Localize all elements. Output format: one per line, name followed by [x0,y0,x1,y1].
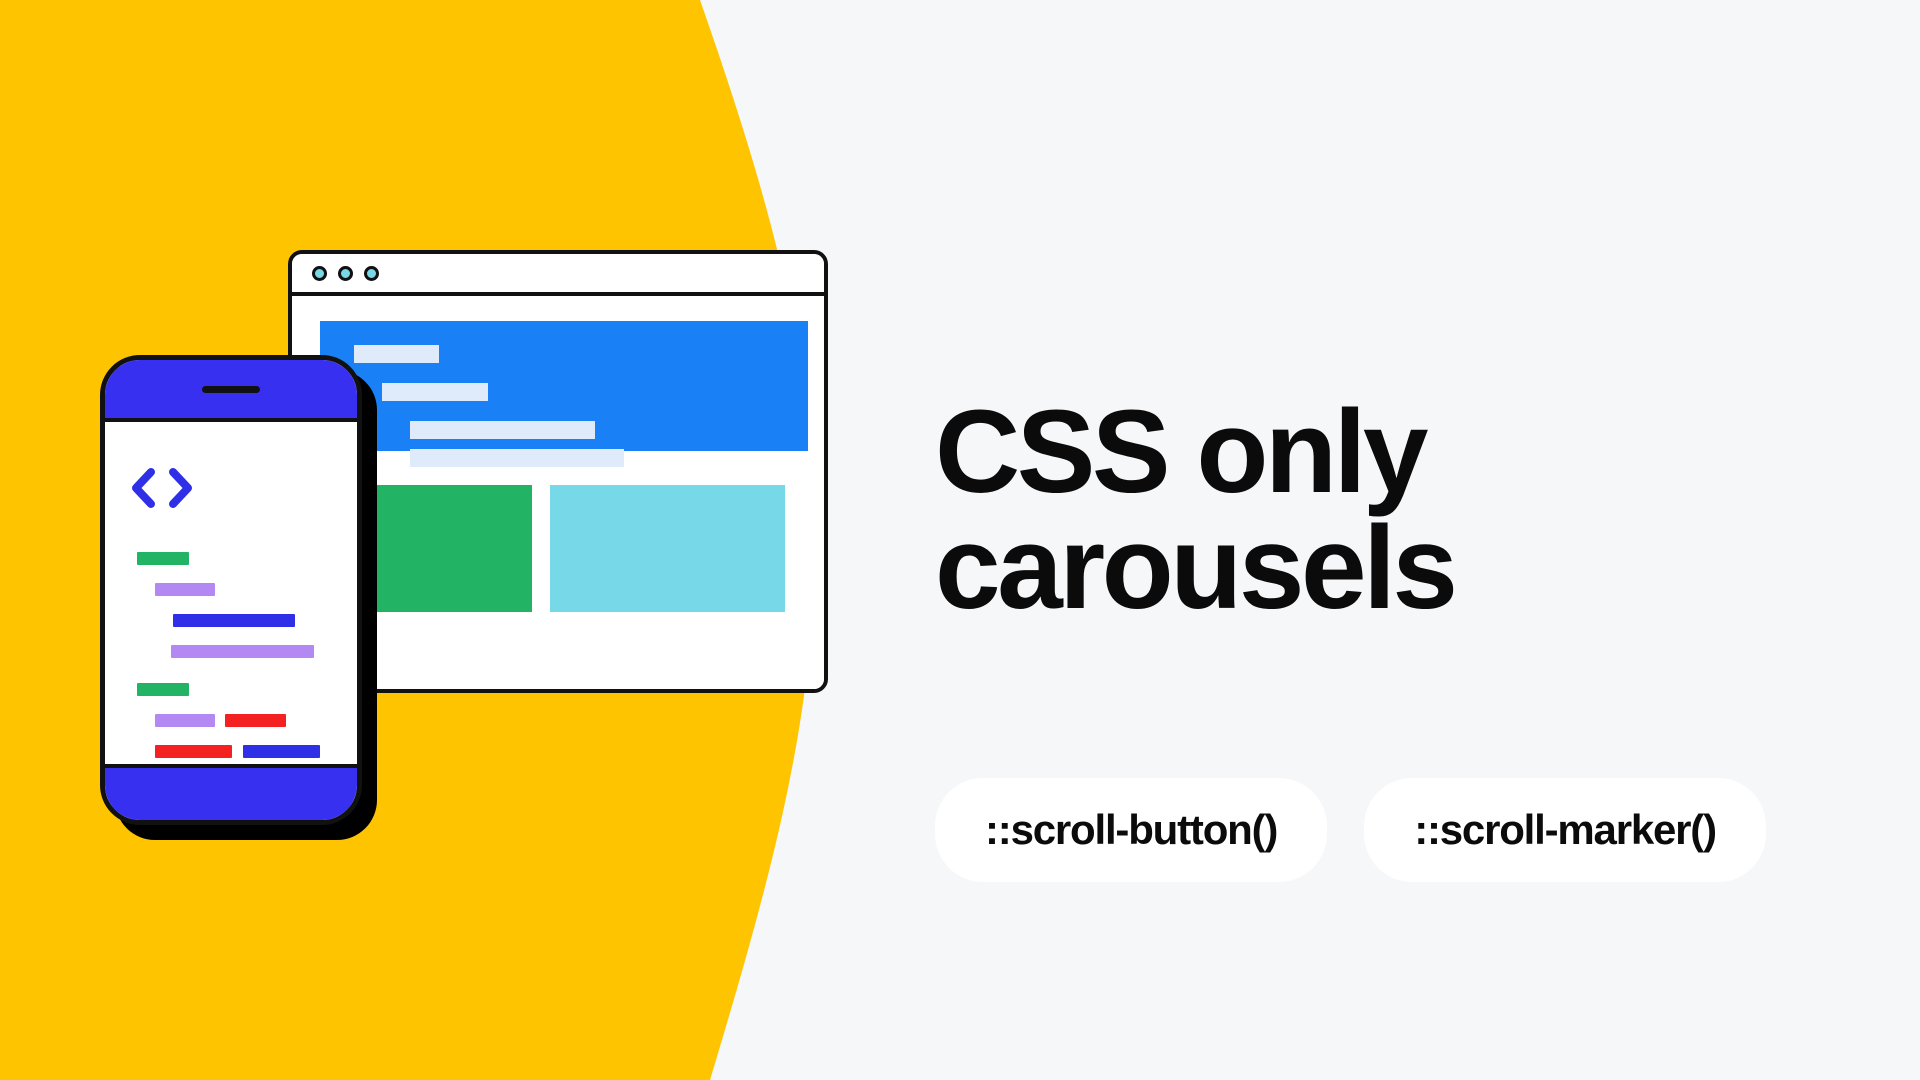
code-line [243,745,320,758]
phone-home-bar [105,764,357,820]
code-line [137,683,189,696]
window-dot-close-icon [312,266,327,281]
carousel-slide-blue [320,321,808,451]
phone-screen [105,422,357,762]
window-dot-minimize-icon [338,266,353,281]
hero-illustration [0,0,900,1080]
carousel-slide-cyan [550,485,785,612]
phone-mockup [100,355,362,825]
code-line [155,583,215,596]
code-line [173,614,295,627]
feature-pill-group: ::scroll-button() ::scroll-marker() [935,778,1766,882]
hero-text-column: CSS only carousels ::scroll-button() ::s… [935,0,1920,1080]
placeholder-bar [410,449,624,467]
browser-title-bar [292,254,824,296]
code-line [171,645,314,658]
phone-status-bar [105,360,357,422]
code-line [137,552,189,565]
pill-scroll-marker[interactable]: ::scroll-marker() [1364,778,1766,882]
placeholder-bar [410,421,595,439]
pill-scroll-button[interactable]: ::scroll-button() [935,778,1327,882]
angle-brackets-icon [131,468,193,508]
headline-line-2: carousels [935,511,1755,627]
placeholder-bar [382,383,488,401]
code-line [225,714,286,727]
placeholder-bar [354,345,439,363]
page-title: CSS only carousels [935,395,1755,626]
headline-line-1: CSS only [935,386,1425,518]
code-line [155,714,215,727]
carousel-slide-green [354,485,532,612]
window-dot-maximize-icon [364,266,379,281]
code-line [155,745,232,758]
phone-speaker-notch-icon [202,386,260,393]
